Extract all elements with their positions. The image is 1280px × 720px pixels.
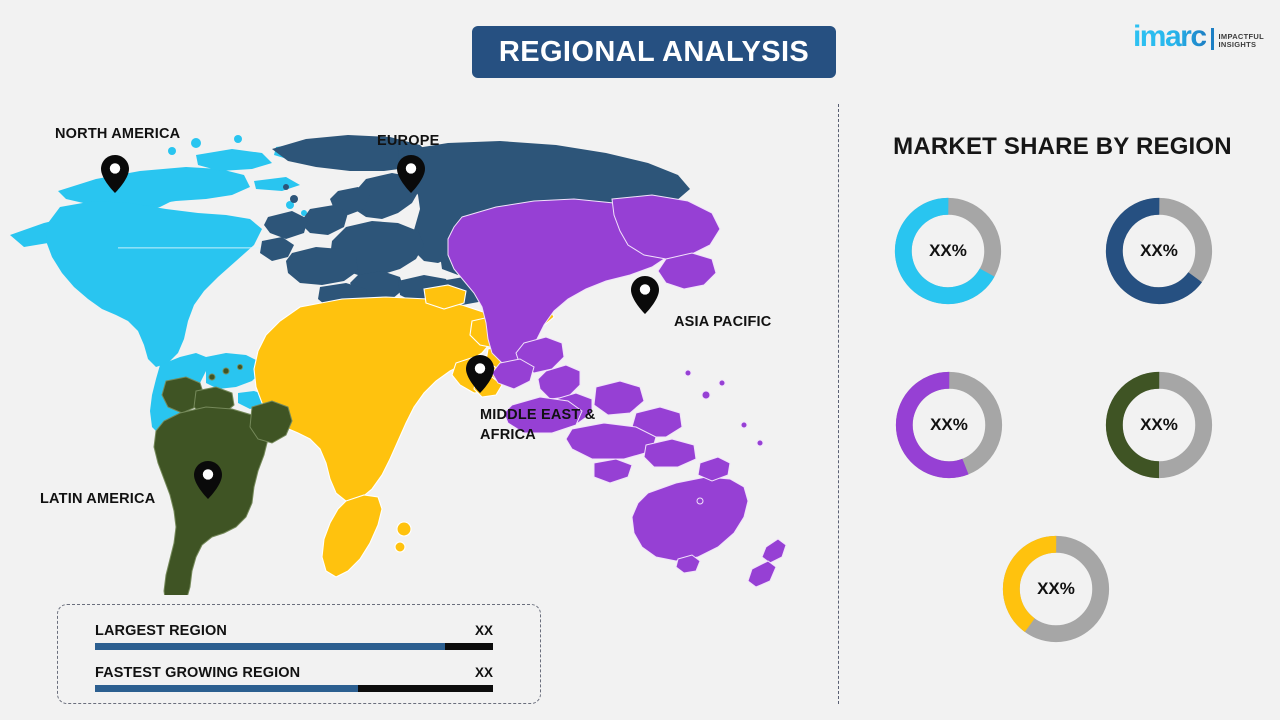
- donut-chart-latin-america[interactable]: XX%: [1100, 366, 1218, 484]
- page-title: REGIONAL ANALYSIS: [499, 36, 809, 69]
- donut-chart-europe[interactable]: XX%: [1100, 192, 1218, 310]
- legend-bar-fill-fastest-growing-region: [95, 685, 358, 692]
- panel-divider: [838, 104, 839, 704]
- donut-value-asia-pacific: XX%: [890, 366, 1008, 484]
- chart-title: MARKET SHARE BY REGION: [845, 133, 1280, 161]
- legend-bar-fill-largest-region: [95, 643, 445, 650]
- map-label-latin-america: LATIN AMERICA: [40, 490, 155, 510]
- legend-value-largest-region: XX: [475, 623, 493, 638]
- map-pin-icon-middle-east-africa[interactable]: [466, 355, 494, 393]
- regional-map-panel: NORTH AMERICA EUROPE ASIA PACIFIC MIDDLE…: [0, 95, 830, 615]
- logo-wordmark: imarc: [1133, 22, 1206, 52]
- legend-row-largest-region: LARGEST REGION XX: [95, 623, 493, 650]
- legend-row-fastest-growing-region: FASTEST GROWING REGION XX: [95, 665, 493, 692]
- legend-label-largest-region: LARGEST REGION: [95, 623, 227, 639]
- legend-bar-fastest-growing-region: [95, 685, 493, 692]
- logo-tagline-line2: INSIGHTS: [1219, 41, 1264, 50]
- donut-value-latin-america: XX%: [1100, 366, 1218, 484]
- page-header-banner: REGIONAL ANALYSIS: [472, 26, 836, 78]
- market-share-panel: MARKET SHARE BY REGION XX% XX% XX% XX%: [845, 120, 1280, 700]
- map-pin-icon-north-america[interactable]: [101, 155, 129, 193]
- legend-value-fastest-growing-region: XX: [475, 665, 493, 680]
- logo-tagline: IMPACTFUL INSIGHTS: [1219, 33, 1264, 50]
- donut-chart-asia-pacific[interactable]: XX%: [890, 366, 1008, 484]
- donut-value-middle-east-africa: XX%: [997, 530, 1115, 648]
- donut-chart-middle-east-africa[interactable]: XX%: [997, 530, 1115, 648]
- map-label-middle-east-africa: MIDDLE EAST & AFRICA: [480, 406, 595, 445]
- map-pin-icon-latin-america[interactable]: [194, 461, 222, 499]
- map-label-europe: EUROPE: [377, 132, 439, 152]
- donut-value-europe: XX%: [1100, 192, 1218, 310]
- donut-chart-north-america[interactable]: XX%: [889, 192, 1007, 310]
- legend-bar-largest-region: [95, 643, 493, 650]
- imarc-logo: imarc IMPACTFUL INSIGHTS: [1133, 22, 1264, 52]
- region-summary-legend: LARGEST REGION XX FASTEST GROWING REGION…: [57, 604, 541, 704]
- map-pin-icon-asia-pacific[interactable]: [631, 276, 659, 314]
- logo-divider: [1211, 28, 1214, 50]
- map-label-north-america: NORTH AMERICA: [55, 125, 180, 145]
- map-label-asia-pacific: ASIA PACIFIC: [674, 313, 771, 333]
- donut-value-north-america: XX%: [889, 192, 1007, 310]
- legend-label-fastest-growing-region: FASTEST GROWING REGION: [95, 665, 300, 681]
- map-pin-icon-europe[interactable]: [397, 155, 425, 193]
